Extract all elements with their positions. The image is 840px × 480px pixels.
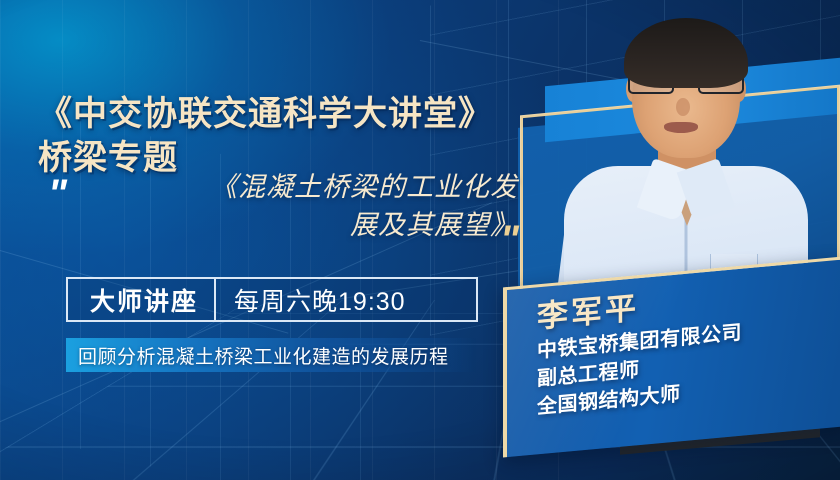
lecture-poster: 《中交协联交通科学大讲堂》 桥梁专题 " 《混凝土桥梁的工业化发 展及其展望》 … <box>0 0 840 480</box>
schedule-box: 大师讲座 每周六晚19:30 <box>66 277 478 322</box>
speaker-honor: 全国钢结构大师 <box>537 366 840 422</box>
schedule-label: 大师讲座 <box>68 282 214 318</box>
photo-mouth <box>664 122 698 133</box>
quote-open-icon: " <box>48 174 64 214</box>
topic-block: " 《混凝土桥梁的工业化发 展及其展望》 " <box>40 168 560 268</box>
quote-close-icon: " <box>500 220 516 260</box>
speaker-title: 副总工程师 <box>537 338 840 394</box>
tagline-text: 回顾分析混凝土桥梁工业化建造的发展历程 <box>66 342 449 369</box>
photo-hair <box>624 18 748 88</box>
topic-line-1: 《混凝土桥梁的工业化发 <box>88 168 518 206</box>
topic-line-2: 展及其展望》 <box>88 206 518 244</box>
speaker-name: 李军平 <box>537 270 840 338</box>
speaker-affiliation: 中铁宝桥集团有限公司 <box>537 310 840 366</box>
speaker-info-panel: 李军平 中铁宝桥集团有限公司 副总工程师 全国钢结构大师 <box>503 257 840 458</box>
headline-line-1: 《中交协联交通科学大讲堂》 <box>38 95 493 133</box>
tagline-banner: 回顾分析混凝土桥梁工业化建造的发展历程 <box>66 338 476 372</box>
topic-title: 《混凝土桥梁的工业化发 展及其展望》 <box>88 168 518 244</box>
schedule-time: 每周六晚19:30 <box>216 282 422 318</box>
photo-nose <box>676 98 690 116</box>
